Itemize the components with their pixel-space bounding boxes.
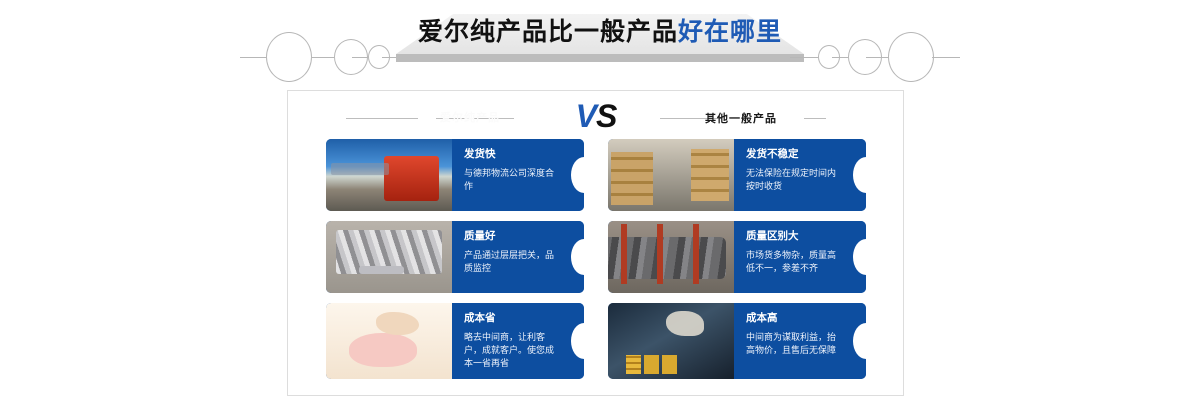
advantage-card[interactable]: 成本省 略去中间商，让利客户，成就客户。使您成本一省再省 xyxy=(326,303,584,379)
warehouse-photo-icon xyxy=(608,139,734,211)
right-column-label: 其他一般产品 xyxy=(666,110,816,126)
card-title: 质量好 xyxy=(464,230,562,243)
card-thumbnail xyxy=(608,139,734,211)
card-description: 与德邦物流公司深度合作 xyxy=(464,167,562,193)
header-rule-right-a xyxy=(866,57,888,58)
vs-letter-s: S xyxy=(596,98,616,134)
header-rule-right-c xyxy=(790,57,818,58)
card-body: 成本省 略去中间商，让利客户，成就客户。使您成本一省再省 xyxy=(452,303,584,379)
advantage-card[interactable]: 质量好 产品通过层层把关，品质监控 xyxy=(326,221,584,293)
advantages-column: 发货快 与德邦物流公司深度合作 质量好 产品通过层层把关，品质监控 xyxy=(326,139,584,387)
coin-stack-photo-icon xyxy=(608,303,734,379)
header-rule-left-outer xyxy=(240,57,268,58)
card-title: 发货不稳定 xyxy=(746,148,844,161)
card-body: 发货不稳定 无法保险在规定时间内按时收货 xyxy=(734,139,866,211)
comparison-panel: 爱尔纯产品 VS 其他一般产品 发货快 与德邦物流公司深度合作 xyxy=(287,90,904,396)
card-notch xyxy=(571,157,584,193)
comparison-labels-row: 爱尔纯产品 VS 其他一般产品 xyxy=(288,91,905,141)
card-notch xyxy=(853,157,866,193)
page-title: 爱尔纯产品比一般产品好在哪里 xyxy=(396,12,804,52)
card-body: 发货快 与德邦物流公司深度合作 xyxy=(452,139,584,211)
card-description: 略去中间商，让利客户，成就客户。使您成本一省再省 xyxy=(464,331,562,370)
header-circle-large-right xyxy=(888,32,934,82)
header-rule-right-outer xyxy=(932,57,960,58)
drawback-card[interactable]: 成本高 中间商为谋取利益，抬高物价，且售后无保障 xyxy=(608,303,866,379)
card-description: 市场货多物杂，质量高低不一，参差不齐 xyxy=(746,249,844,275)
card-notch xyxy=(571,323,584,359)
card-notch xyxy=(853,323,866,359)
left-column-label: 爱尔纯产品 xyxy=(410,109,530,125)
title-plate-edge xyxy=(396,54,804,62)
right-label-rule-b xyxy=(804,118,826,119)
left-label-rule-a xyxy=(346,118,418,119)
comparison-grid: 发货快 与德邦物流公司深度合作 质量好 产品通过层层把关，品质监控 xyxy=(326,139,866,387)
card-description: 无法保险在规定时间内按时收货 xyxy=(746,167,844,193)
card-title: 质量区别大 xyxy=(746,230,844,243)
card-body: 质量好 产品通过层层把关，品质监控 xyxy=(452,221,584,293)
card-notch xyxy=(571,239,584,275)
card-description: 中间商为谋取利益，抬高物价，且售后无保障 xyxy=(746,331,844,357)
vs-badge: VS xyxy=(560,97,632,135)
card-body: 成本高 中间商为谋取利益，抬高物价，且售后无保障 xyxy=(734,303,866,379)
steel-pipes-photo-icon xyxy=(326,221,452,293)
card-thumbnail xyxy=(326,221,452,293)
card-title: 发货快 xyxy=(464,148,562,161)
vs-letter-v: V xyxy=(576,98,596,134)
header-circle-large-left xyxy=(266,32,312,82)
page-title-main: 爱尔纯产品比一般产品 xyxy=(418,18,678,46)
gray-pipes-photo-icon xyxy=(608,221,734,293)
card-thumbnail xyxy=(326,139,452,211)
card-thumbnail xyxy=(608,303,734,379)
header-rule-right-b xyxy=(832,57,848,58)
drawbacks-column: 发货不稳定 无法保险在规定时间内按时收货 质量区别大 市场货多物杂，质量高低不一… xyxy=(608,139,866,387)
card-description: 产品通过层层把关，品质监控 xyxy=(464,249,562,275)
card-title: 成本省 xyxy=(464,312,562,325)
piggy-bank-photo-icon xyxy=(326,303,452,379)
drawback-card[interactable]: 质量区别大 市场货多物杂，质量高低不一，参差不齐 xyxy=(608,221,866,293)
page-header: 爱尔纯产品比一般产品好在哪里 xyxy=(0,0,1200,86)
drawback-card[interactable]: 发货不稳定 无法保险在规定时间内按时收货 xyxy=(608,139,866,211)
advantage-card[interactable]: 发货快 与德邦物流公司深度合作 xyxy=(326,139,584,211)
truck-photo-icon xyxy=(326,139,452,211)
card-notch xyxy=(853,239,866,275)
page-title-accent: 好在哪里 xyxy=(678,18,782,46)
card-title: 成本高 xyxy=(746,312,844,325)
header-rule-left-a xyxy=(312,57,334,58)
card-thumbnail xyxy=(608,221,734,293)
card-thumbnail xyxy=(326,303,452,379)
title-plate: 爱尔纯产品比一般产品好在哪里 xyxy=(396,14,804,62)
header-rule-left-b xyxy=(352,57,368,58)
card-body: 质量区别大 市场货多物杂，质量高低不一，参差不齐 xyxy=(734,221,866,293)
